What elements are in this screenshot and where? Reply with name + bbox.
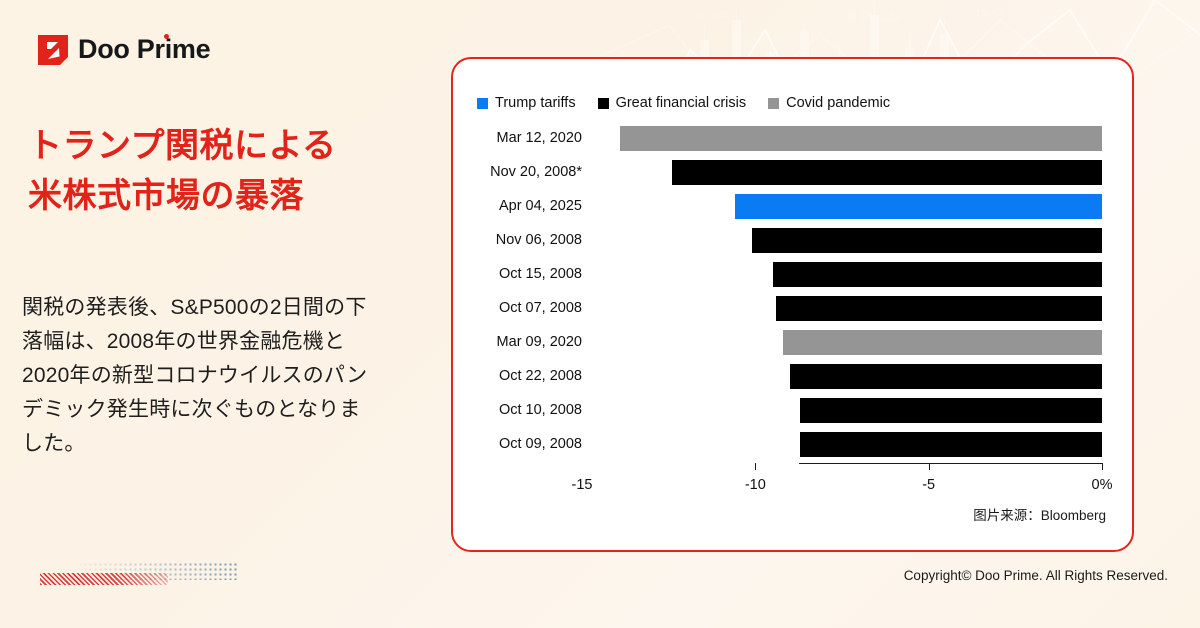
chart-bar-row: Mar 12, 2020 [453, 121, 1132, 155]
copyright-text: Copyright© Doo Prime. All Rights Reserve… [904, 568, 1168, 583]
legend-swatch-icon [768, 98, 779, 109]
page-title: トランプ関税による 米株式市場の暴落 [28, 122, 428, 221]
x-axis-tick [755, 463, 756, 470]
brand-logo: Doo Prime [38, 34, 210, 65]
chart-bar-row: Oct 15, 2008 [453, 257, 1132, 291]
legend-item-2: Covid pandemic [768, 95, 890, 111]
chart-bar-row: Oct 07, 2008 [453, 291, 1132, 325]
chart-bar [783, 330, 1102, 355]
legend-label: Trump tariffs [495, 95, 576, 111]
chart-bar [620, 126, 1102, 151]
x-axis-tick-label: -10 [745, 477, 766, 493]
chart-bar [800, 398, 1102, 423]
chart-bar [800, 432, 1102, 457]
x-axis-tick-label: 0% [1092, 477, 1113, 493]
legend-label: Covid pandemic [786, 95, 890, 111]
legend-item-0: Trump tariffs [477, 95, 576, 111]
legend-swatch-icon [598, 98, 609, 109]
chart-category-label: Nov 06, 2008 [453, 223, 582, 257]
chart-bar [773, 262, 1102, 287]
chart-bar-row: Nov 06, 2008 [453, 223, 1132, 257]
infographic-canvas: 76.180 94 185.223 18.40 Doo Prime トランプ関税… [0, 0, 1200, 628]
body-paragraph: 関税の発表後、S&P500の2日間の下 落幅は、2008年の世界金融危機と 20… [22, 291, 422, 461]
x-axis-tick-label: -5 [922, 477, 935, 493]
chart-bar-rows: Mar 12, 2020Nov 20, 2008*Apr 04, 2025Nov… [453, 121, 1132, 461]
body-line-4: デミック発生時に次ぐものとなりま [22, 393, 422, 427]
x-axis-line [799, 463, 1102, 464]
chart-bar [752, 228, 1102, 253]
chart-bar [735, 194, 1102, 219]
brand-logo-dot-icon [164, 34, 169, 39]
x-axis-tick [929, 463, 930, 470]
doo-prime-mark-icon [38, 35, 68, 65]
chart-category-label: Oct 09, 2008 [453, 427, 582, 461]
x-axis-tick-label: -15 [572, 477, 593, 493]
halftone-dots-decoration [78, 562, 238, 580]
chart-legend: Trump tariffsGreat financial crisisCovid… [477, 95, 890, 111]
x-axis-tick [1102, 463, 1103, 470]
svg-text:18.40: 18.40 [975, 7, 1003, 19]
brand-logo-text: Doo Prime [78, 34, 210, 65]
chart-category-label: Oct 10, 2008 [453, 393, 582, 427]
chart-bar-row: Apr 04, 2025 [453, 189, 1132, 223]
body-line-5: した。 [22, 427, 422, 461]
svg-text:76.180: 76.180 [695, 9, 729, 21]
body-line-2: 落幅は、2008年の世界金融危機と [22, 325, 422, 359]
svg-text:94 185.223: 94 185.223 [845, 11, 900, 23]
chart-bar [672, 160, 1102, 185]
chart-plot-area: Mar 12, 2020Nov 20, 2008*Apr 04, 2025Nov… [453, 121, 1132, 461]
chart: Trump tariffsGreat financial crisisCovid… [453, 59, 1132, 550]
chart-category-label: Oct 15, 2008 [453, 257, 582, 291]
chart-category-label: Mar 09, 2020 [453, 325, 582, 359]
body-line-3: 2020年の新型コロナウイルスのパン [22, 359, 422, 393]
legend-swatch-icon [477, 98, 488, 109]
chart-category-label: Mar 12, 2020 [453, 121, 582, 155]
chart-card: Trump tariffsGreat financial crisisCovid… [451, 57, 1134, 552]
legend-item-1: Great financial crisis [598, 95, 747, 111]
brand-logo-label: Doo Prime [78, 34, 210, 64]
chart-bar-row: Oct 10, 2008 [453, 393, 1132, 427]
chart-category-label: Apr 04, 2025 [453, 189, 582, 223]
chart-category-label: Oct 07, 2008 [453, 291, 582, 325]
chart-bar-row: Oct 22, 2008 [453, 359, 1132, 393]
page-title-line-1: トランプ関税による [28, 122, 428, 172]
chart-bar [776, 296, 1102, 321]
legend-label: Great financial crisis [616, 95, 747, 111]
chart-source-note: 图片来源：Bloomberg [973, 504, 1106, 524]
chart-bar [790, 364, 1102, 389]
chart-bar-row: Nov 20, 2008* [453, 155, 1132, 189]
chart-bar-row: Mar 09, 2020 [453, 325, 1132, 359]
halftone-hatch-decoration [40, 573, 168, 585]
chart-bar-row: Oct 09, 2008 [453, 427, 1132, 461]
body-line-1: 関税の発表後、S&P500の2日間の下 [22, 291, 422, 325]
chart-category-label: Oct 22, 2008 [453, 359, 582, 393]
page-title-line-2: 米株式市場の暴落 [28, 172, 428, 222]
chart-category-label: Nov 20, 2008* [453, 155, 582, 189]
